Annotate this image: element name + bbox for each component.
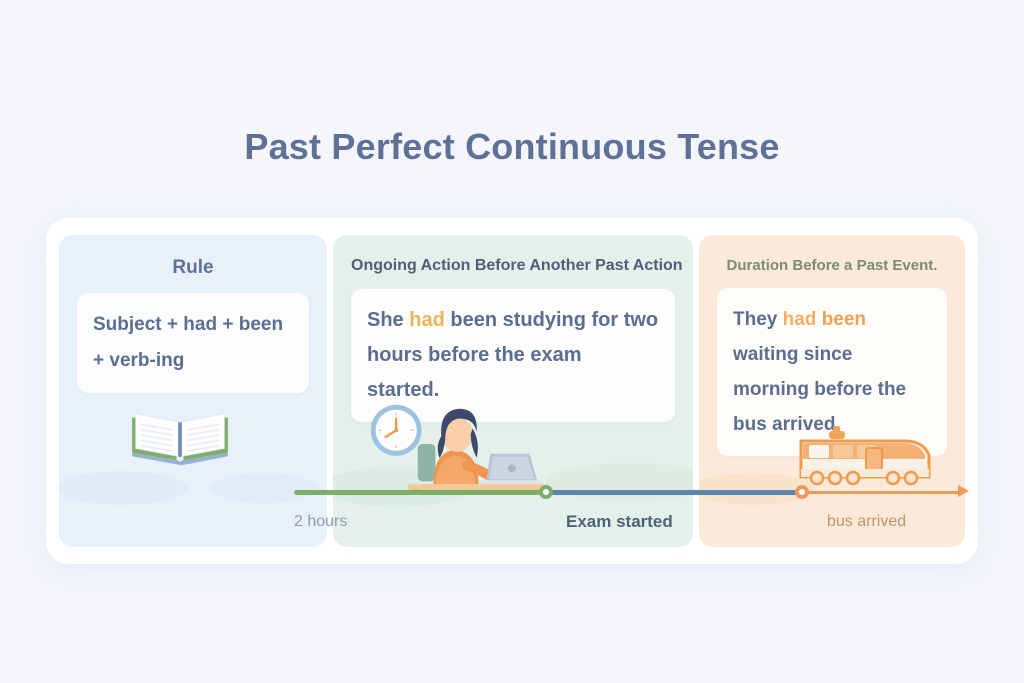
bus-icon bbox=[783, 425, 943, 495]
rule-formula-box: Subject + had + been + verb-ing bbox=[77, 293, 309, 393]
duration-illustration bbox=[717, 460, 947, 547]
panel-rule: Rule Subject + had + been + verb-ing bbox=[59, 235, 327, 547]
timeline-label-duration: 2 hours bbox=[294, 513, 347, 531]
page-root: Past Perfect Continuous Tense Rule Subje… bbox=[0, 0, 1024, 683]
ongoing-text-1: She bbox=[367, 309, 409, 331]
timeline-label-midpoint: Exam started bbox=[566, 512, 673, 532]
ongoing-sentence: She had been studying for two hours befo… bbox=[367, 303, 659, 408]
rule-formula-line1: Subject + had + been bbox=[93, 307, 293, 343]
rule-formula-line2: + verb-ing bbox=[93, 343, 293, 379]
panel-duration: Duration Before a Past Event. They had b… bbox=[699, 235, 965, 547]
panel-rule-header: Rule bbox=[77, 257, 309, 279]
ongoing-highlight-had: had bbox=[409, 309, 445, 331]
page-title: Past Perfect Continuous Tense bbox=[0, 126, 1024, 168]
duration-text-3: waiting since morning before the bus arr… bbox=[733, 344, 906, 435]
open-book-icon bbox=[125, 405, 235, 467]
rule-illustration bbox=[77, 397, 309, 547]
panel-ongoing-header: Ongoing Action Before Another Past Actio… bbox=[351, 257, 675, 275]
panel-duration-header: Duration Before a Past Event. bbox=[717, 257, 947, 274]
timeline-label-endpoint: bus arrived bbox=[827, 513, 906, 531]
duration-highlight-had: had bbox=[783, 309, 817, 330]
duration-sentence: They had been waiting since morning befo… bbox=[733, 302, 931, 442]
duration-highlight-been: been bbox=[822, 309, 866, 330]
woman-studying-icon bbox=[355, 395, 555, 493]
duration-text-1: They bbox=[733, 309, 783, 330]
panel-ongoing: Ongoing Action Before Another Past Actio… bbox=[333, 235, 693, 547]
